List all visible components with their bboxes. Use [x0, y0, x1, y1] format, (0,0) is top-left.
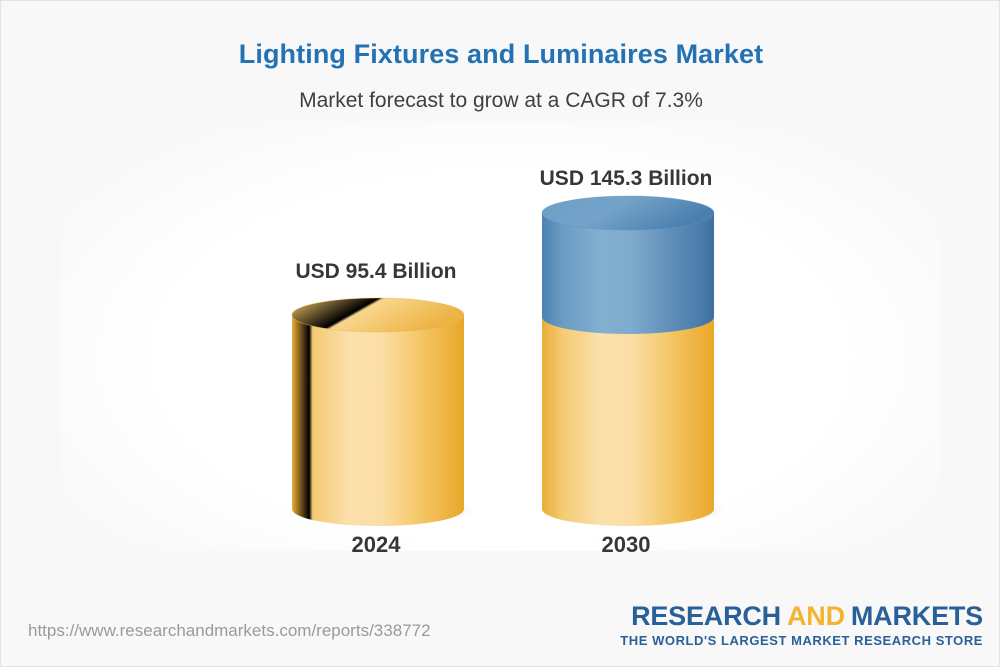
brand-logo-and: AND	[781, 601, 851, 631]
brand-logo-tagline: THE WORLD'S LARGEST MARKET RESEARCH STOR…	[620, 633, 983, 648]
brand-logo-wordmark: RESEARCHANDMARKETS	[620, 602, 983, 630]
brand-logo-markets: MARKETS	[851, 601, 983, 631]
bar-cylinder-2030[interactable]	[534, 195, 724, 527]
chart-subtitle: Market forecast to grow at a CAGR of 7.3…	[1, 89, 1000, 113]
bar-category-label-2030: 2030	[466, 532, 786, 558]
brand-logo[interactable]: RESEARCHANDMARKETS THE WORLD'S LARGEST M…	[620, 602, 983, 648]
source-url[interactable]: https://www.researchandmarkets.com/repor…	[28, 621, 431, 641]
brand-logo-research: RESEARCH	[631, 601, 781, 631]
bar-value-label-2024: USD 95.4 Billion	[216, 260, 536, 284]
chart-card: Lighting Fixtures and Luminaires Market …	[0, 0, 1000, 667]
bar-cylinder-2024[interactable]	[284, 297, 474, 527]
bar-value-label-2030: USD 145.3 Billion	[466, 167, 786, 191]
page-title: Lighting Fixtures and Luminaires Market	[1, 39, 1000, 70]
